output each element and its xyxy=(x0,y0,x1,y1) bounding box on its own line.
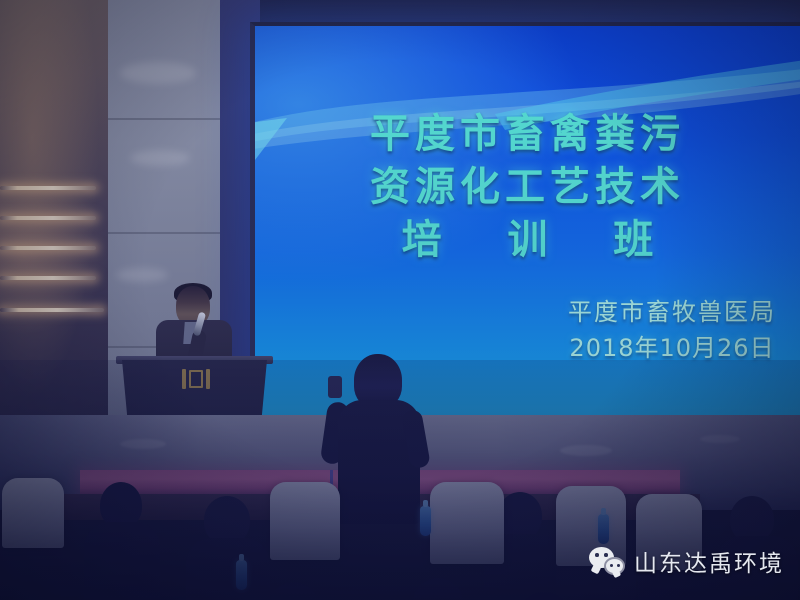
wechat-icon xyxy=(589,547,625,575)
water-bottle xyxy=(598,514,609,544)
wall-light-strip xyxy=(0,246,96,250)
screen-title: 平度市畜禽粪污 资源化工艺技术 培 训 班 xyxy=(255,108,800,267)
title-line-3: 培 训 班 xyxy=(255,214,800,267)
water-bottle xyxy=(420,506,431,536)
title-line-1: 平度市畜禽粪污 xyxy=(255,108,800,161)
wall-light-strip xyxy=(0,186,96,190)
organizer-name: 平度市畜牧兽医局 xyxy=(568,294,776,330)
wall-light-strip xyxy=(0,276,96,280)
phone-icon xyxy=(328,376,342,398)
watermark: 山东达禹环境 xyxy=(589,544,784,578)
wall-light-strip xyxy=(0,216,96,220)
screen-subtitle-block: 平度市畜牧兽医局 2018年10月26日 xyxy=(568,294,776,366)
water-bottle xyxy=(236,560,247,590)
screenshot-root: 平度市畜禽粪污 资源化工艺技术 培 训 班 平度市畜牧兽医局 2018年10月2… xyxy=(0,0,800,600)
audience-member-photographing xyxy=(330,354,422,522)
chair xyxy=(2,478,64,548)
chair xyxy=(430,482,504,564)
title-line-2: 资源化工艺技术 xyxy=(255,161,800,214)
upper-wall-strip xyxy=(250,0,800,28)
watermark-label: 山东达禹环境 xyxy=(634,544,784,578)
chair xyxy=(270,482,340,560)
wall-light-strip xyxy=(0,308,104,312)
